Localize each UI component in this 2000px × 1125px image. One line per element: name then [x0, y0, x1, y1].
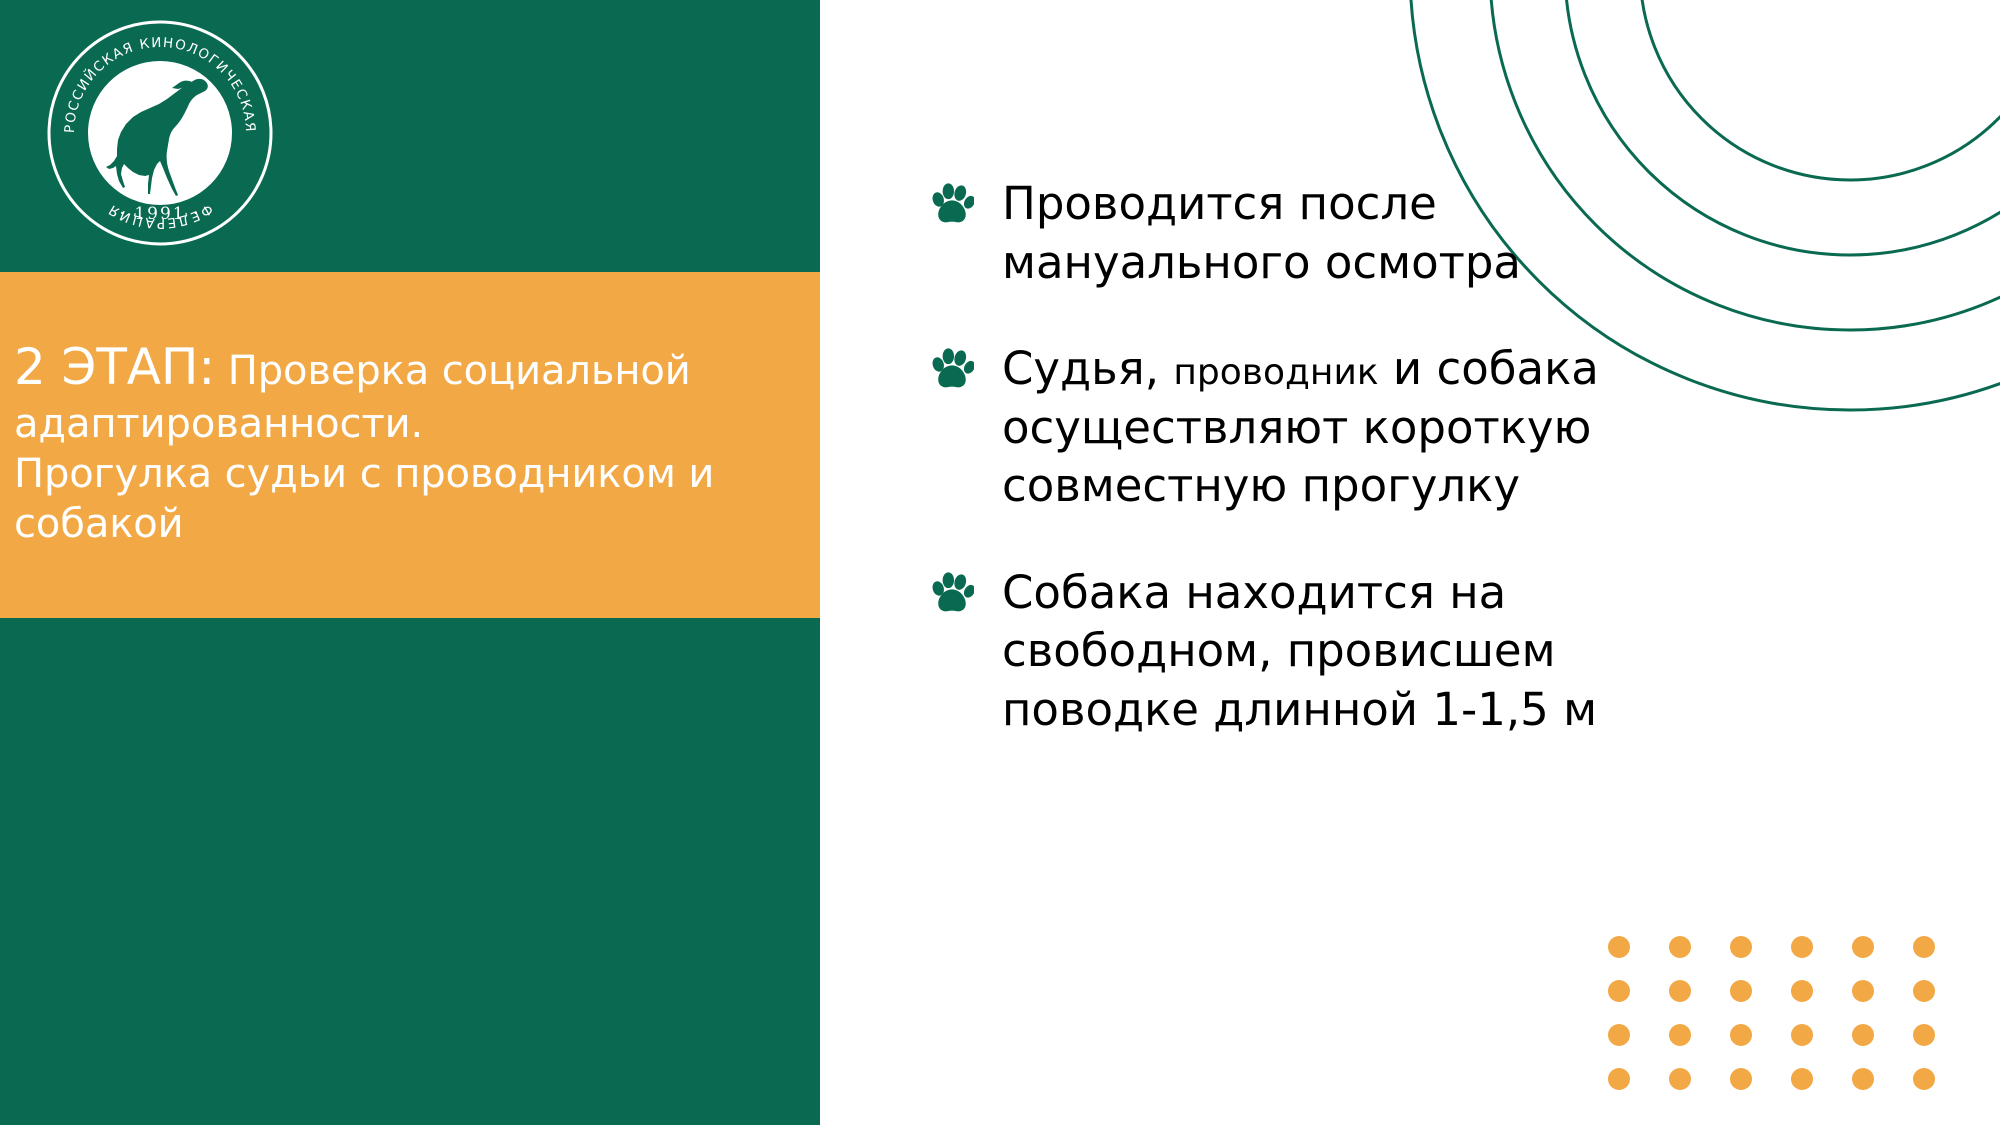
dot — [1608, 980, 1630, 1002]
bullet-2-part-1: Судья, — [1002, 342, 1173, 395]
paw-icon — [930, 572, 974, 616]
bullet-text: Проводится после мануального осмотра — [1002, 175, 1702, 292]
dot — [1852, 936, 1874, 958]
bullet-list: Проводится после мануального осмотра — [930, 175, 1790, 739]
paw-icon — [930, 183, 974, 227]
dot — [1852, 980, 1874, 1002]
dot — [1669, 936, 1691, 958]
dot — [1730, 1068, 1752, 1090]
title-band: 2 ЭТАП: Проверка социальной адаптированн… — [0, 272, 820, 618]
title-line-1: 2 ЭТАП: Проверка социальной — [14, 342, 784, 396]
dot — [1669, 1068, 1691, 1090]
bullet-text: Собака находится на свободном, провисшем… — [1002, 564, 1702, 740]
title-line-2: адаптированности. — [14, 399, 784, 449]
dot — [1791, 1024, 1813, 1046]
bullet-text: Судья, проводник и собака осуществляют к… — [1002, 340, 1702, 516]
slide: РОССИЙСКАЯ КИНОЛОГИЧЕСКАЯ ФЕДЕРАЦИЯ · 19… — [0, 0, 2000, 1125]
dot — [1608, 1068, 1630, 1090]
bullet-1-part-1: Проводится после мануального осмотра — [1002, 177, 1521, 289]
paw-icon — [930, 348, 974, 392]
dot — [1608, 936, 1630, 958]
dot — [1669, 980, 1691, 1002]
title-stage-label: 2 ЭТАП: — [14, 338, 215, 396]
dot — [1913, 1024, 1935, 1046]
dot-grid-decoration — [1608, 936, 1935, 1090]
dot — [1791, 1068, 1813, 1090]
dot — [1730, 1024, 1752, 1046]
dot — [1913, 1068, 1935, 1090]
bullet-2-part-2: проводник — [1173, 352, 1378, 393]
rkf-logo: РОССИЙСКАЯ КИНОЛОГИЧЕСКАЯ ФЕДЕРАЦИЯ · 19… — [45, 18, 275, 248]
title-line-4: собакой — [14, 499, 784, 549]
list-item: Проводится после мануального осмотра — [930, 175, 1790, 292]
dot — [1791, 936, 1813, 958]
svg-text:· 1991 ·: · 1991 · — [120, 204, 201, 224]
dot — [1608, 1024, 1630, 1046]
content-area: Проводится после мануального осмотра — [820, 0, 2000, 1125]
list-item: Собака находится на свободном, провисшем… — [930, 564, 1790, 740]
title-line-3: Прогулка судьи с проводником и — [14, 449, 784, 499]
dot — [1730, 980, 1752, 1002]
dot — [1669, 1024, 1691, 1046]
dot — [1852, 1024, 1874, 1046]
dot — [1730, 936, 1752, 958]
dot — [1791, 980, 1813, 1002]
list-item: Судья, проводник и собака осуществляют к… — [930, 340, 1790, 516]
title-line-1-rest: Проверка социальной — [215, 348, 691, 394]
dot — [1913, 936, 1935, 958]
dot — [1913, 980, 1935, 1002]
bullet-3-part-1: Собака находится на свободном, провисшем… — [1002, 566, 1597, 736]
dot — [1852, 1068, 1874, 1090]
